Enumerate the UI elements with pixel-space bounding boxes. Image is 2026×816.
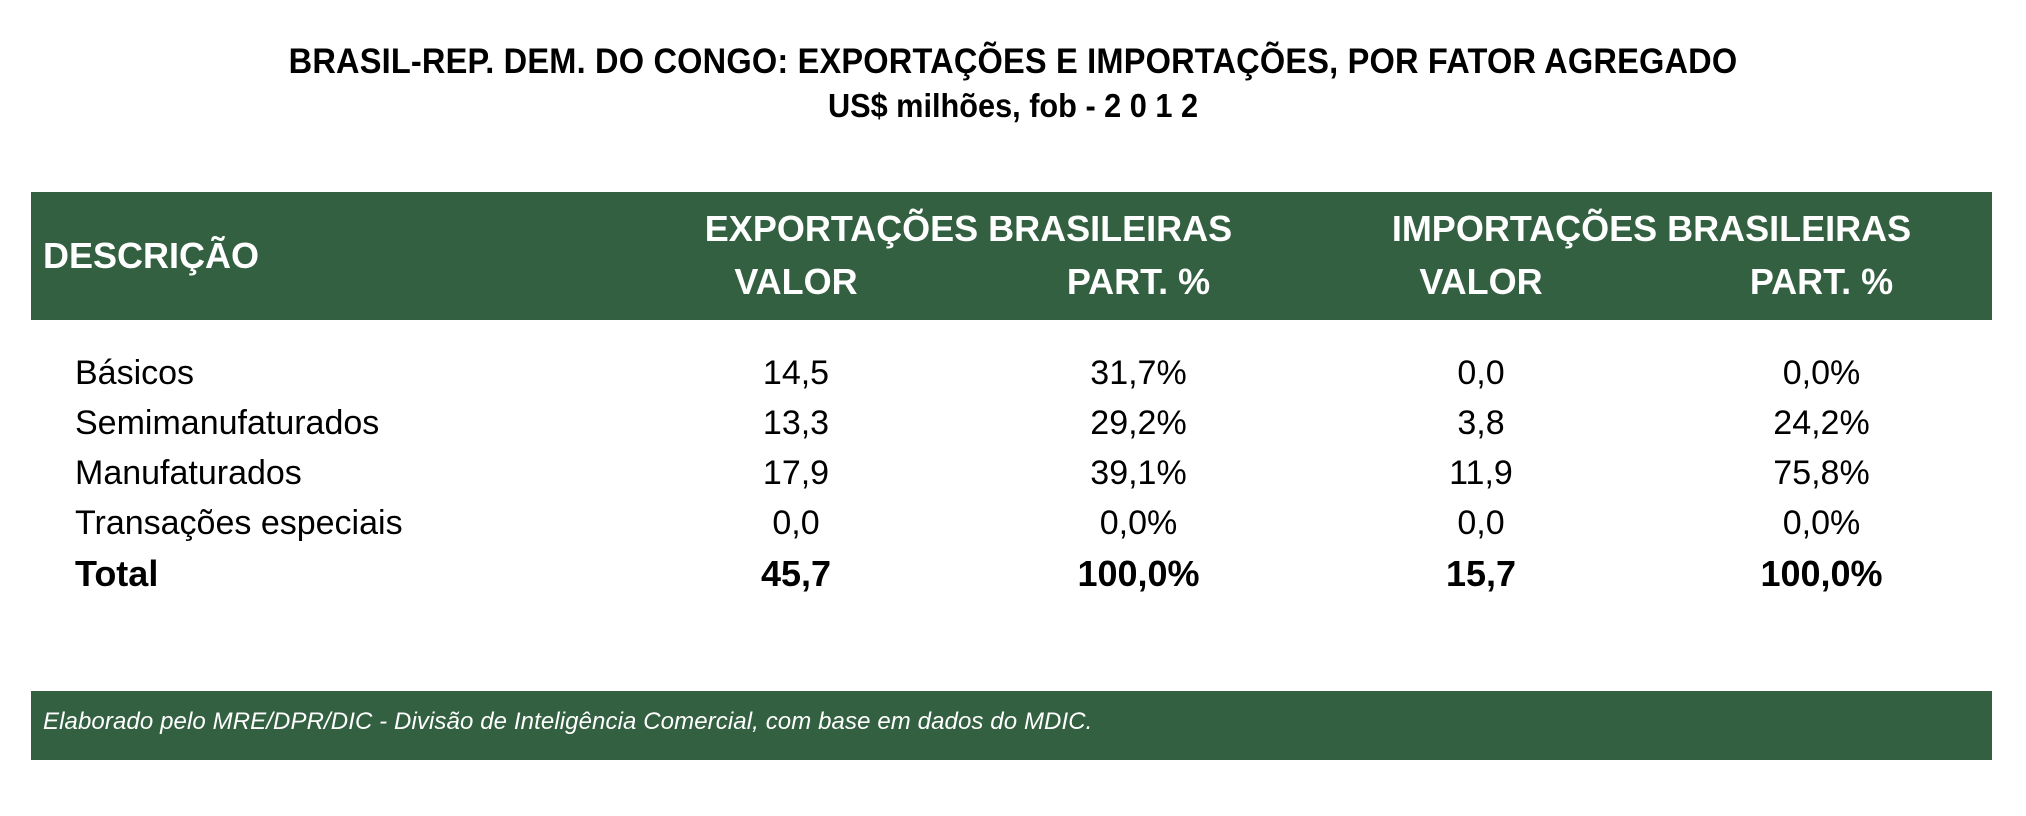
column-header-imp-valor: VALOR [1311, 252, 1651, 320]
table-header: DESCRIÇÃO EXPORTAÇÕES BRASILEIRAS IMPORT… [31, 192, 1992, 320]
table-body: Básicos 14,5 31,7% 0,0 0,0% Semimanufatu… [31, 320, 1992, 600]
trade-table-container: DESCRIÇÃO EXPORTAÇÕES BRASILEIRAS IMPORT… [31, 192, 1992, 600]
report-page: BRASIL-REP. DEM. DO CONGO: EXPORTAÇÕES E… [0, 0, 2026, 816]
cell-exp-valor: 0,0 [626, 498, 966, 548]
cell-exp-part: 29,2% [966, 398, 1311, 448]
cell-exp-valor: 17,9 [626, 448, 966, 498]
row-label: Básicos [31, 348, 626, 398]
total-exp-part: 100,0% [966, 548, 1311, 600]
cell-exp-valor: 14,5 [626, 348, 966, 398]
total-imp-part: 100,0% [1651, 548, 1992, 600]
total-label: Total [31, 548, 626, 600]
title-subtitle: US$ milhões, fob - 2 0 1 2 [71, 84, 1955, 128]
column-header-exp-valor: VALOR [626, 252, 966, 320]
row-label: Manufaturados [31, 448, 626, 498]
column-header-exp-part: PART. % [966, 252, 1311, 320]
cell-exp-part: 31,7% [966, 348, 1311, 398]
table-row: Transações especiais 0,0 0,0% 0,0 0,0% [31, 498, 1992, 548]
cell-imp-valor: 0,0 [1311, 348, 1651, 398]
cell-imp-valor: 0,0 [1311, 498, 1651, 548]
table-row: Manufaturados 17,9 39,1% 11,9 75,8% [31, 448, 1992, 498]
column-header-descricao: DESCRIÇÃO [31, 192, 626, 320]
cell-imp-valor: 3,8 [1311, 398, 1651, 448]
page-title: BRASIL-REP. DEM. DO CONGO: EXPORTAÇÕES E… [0, 40, 2026, 128]
table-row: Básicos 14,5 31,7% 0,0 0,0% [31, 348, 1992, 398]
cell-exp-part: 39,1% [966, 448, 1311, 498]
column-group-exportacoes: EXPORTAÇÕES BRASILEIRAS [626, 192, 1311, 252]
header-body-gap [31, 320, 1992, 348]
table-row: Semimanufaturados 13,3 29,2% 3,8 24,2% [31, 398, 1992, 448]
cell-imp-valor: 11,9 [1311, 448, 1651, 498]
cell-imp-part: 75,8% [1651, 448, 1992, 498]
header-group-row: DESCRIÇÃO EXPORTAÇÕES BRASILEIRAS IMPORT… [31, 192, 1992, 252]
row-label: Transações especiais [31, 498, 626, 548]
column-header-imp-part: PART. % [1651, 252, 1992, 320]
cell-imp-part: 0,0% [1651, 348, 1992, 398]
cell-exp-valor: 13,3 [626, 398, 966, 448]
column-group-importacoes: IMPORTAÇÕES BRASILEIRAS [1311, 192, 1992, 252]
trade-table: DESCRIÇÃO EXPORTAÇÕES BRASILEIRAS IMPORT… [31, 192, 1992, 600]
cell-imp-part: 0,0% [1651, 498, 1992, 548]
total-exp-valor: 45,7 [626, 548, 966, 600]
cell-imp-part: 24,2% [1651, 398, 1992, 448]
row-label: Semimanufaturados [31, 398, 626, 448]
table-row-total: Total 45,7 100,0% 15,7 100,0% [31, 548, 1992, 600]
total-imp-valor: 15,7 [1311, 548, 1651, 600]
source-note: Elaborado pelo MRE/DPR/DIC - Divisão de … [43, 708, 1092, 736]
title-main: BRASIL-REP. DEM. DO CONGO: EXPORTAÇÕES E… [71, 40, 1955, 84]
footer-band: Elaborado pelo MRE/DPR/DIC - Divisão de … [31, 691, 1992, 760]
cell-exp-part: 0,0% [966, 498, 1311, 548]
